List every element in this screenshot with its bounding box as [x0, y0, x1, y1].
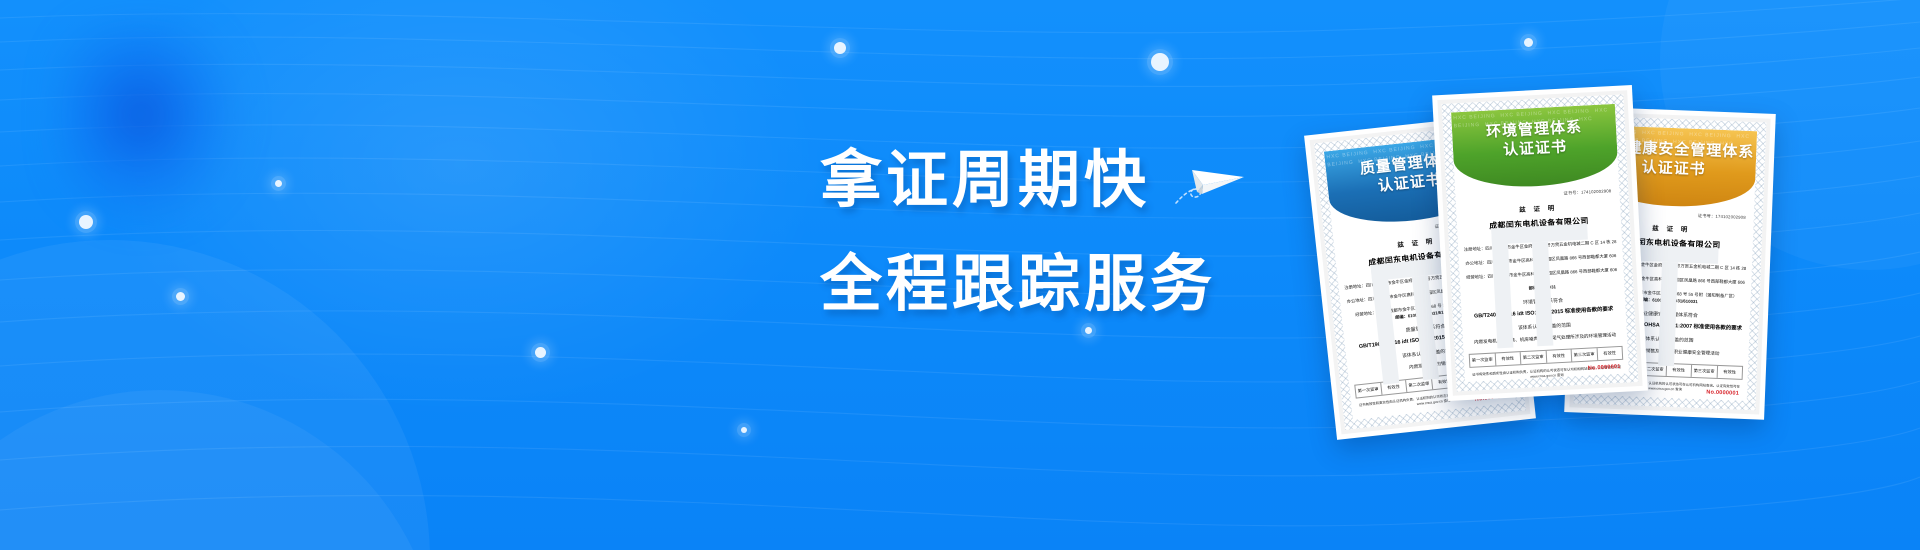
certificate-watermark — [1491, 224, 1593, 349]
china-certification-logo: 圆 — [1369, 418, 1394, 420]
headline-line-1: 拿证周期快 — [820, 150, 1150, 212]
china-certification-logo: 圆 — [1588, 398, 1610, 401]
certificate-title: 环境管理体系认证证书 — [1451, 104, 1617, 163]
certificate-body: HXC BEIJING HXC BEIJING HXC BEIJING HXC … — [1451, 104, 1629, 382]
certificate-card: HXC BEIJING HXC BEIJING HXC BEIJING HXC … — [1432, 85, 1648, 401]
cnas-logo: CNAS — [1438, 411, 1470, 420]
certificates-group: HXC BEIJING HXC BEIJING HXC BEIJING HXC … — [1320, 80, 1880, 500]
glow-dot — [1520, 34, 1537, 51]
headline-row-1: 拿证周期快 — [820, 150, 1340, 212]
cert-audit-cell: 有效性 — [1717, 366, 1742, 379]
glow-dot — [737, 423, 751, 437]
red-seal-stamp: 认证专用章 — [1598, 381, 1626, 382]
blue-glow-blob — [60, 25, 240, 225]
glow-dot-core — [535, 347, 546, 358]
cert-audit-cell: 第三次监审 — [1572, 348, 1598, 361]
glow-dot — [830, 38, 850, 58]
promo-banner: 拿证周期快 全程跟踪服务 HXC BEIJING HXC BEIJING HXC… — [0, 0, 1920, 550]
paper-plane-icon — [1172, 156, 1246, 214]
glow-dot — [172, 288, 189, 305]
glow-dot-core — [1151, 53, 1169, 71]
headline-block: 拿证周期快 全程跟踪服务 — [820, 150, 1340, 316]
glow-dot — [271, 176, 286, 191]
glow-dot-core — [741, 427, 747, 433]
glow-dot-core — [1524, 38, 1533, 47]
glow-dot-core — [275, 180, 282, 187]
cert-audit-cell: 第一次监审 — [1470, 353, 1496, 366]
glow-dot — [531, 343, 550, 362]
certificate-serial: No.0000001 — [1706, 389, 1739, 396]
glow-dot — [1081, 323, 1096, 338]
glow-dot — [75, 211, 97, 233]
certificate-header: HXC BEIJING HXC BEIJING HXC BEIJING HXC … — [1451, 104, 1619, 190]
certificate-frame: HXC BEIJING HXC BEIJING HXC BEIJING HXC … — [1437, 90, 1642, 396]
cert-audit-cell: 第二次监审 — [1521, 351, 1547, 364]
glow-dot — [1147, 49, 1173, 75]
glow-dot-core — [834, 42, 846, 54]
glow-dot-core — [1085, 327, 1092, 334]
iaf-logo: IAF — [1399, 415, 1433, 420]
headline-line-2: 全程跟踪服务 — [820, 254, 1340, 316]
cert-audit-cell: 有效性 — [1495, 352, 1521, 365]
certification-side-note: 管理体系认证MANAGEMENT SYSTEMCERTIFICATION — [1475, 410, 1502, 420]
glow-dot-core — [176, 292, 185, 301]
cert-audit-cell: 有效性 — [1546, 349, 1572, 362]
glow-dot-core — [79, 215, 93, 229]
paper-plane-svg — [1172, 156, 1246, 214]
certificate-logos: 圆IAFCNAS管理体系认证MANAGEMENT SYSTEMCERTIFICA… — [1583, 397, 1747, 401]
cert-audit-cell: 有效性 — [1597, 347, 1622, 360]
